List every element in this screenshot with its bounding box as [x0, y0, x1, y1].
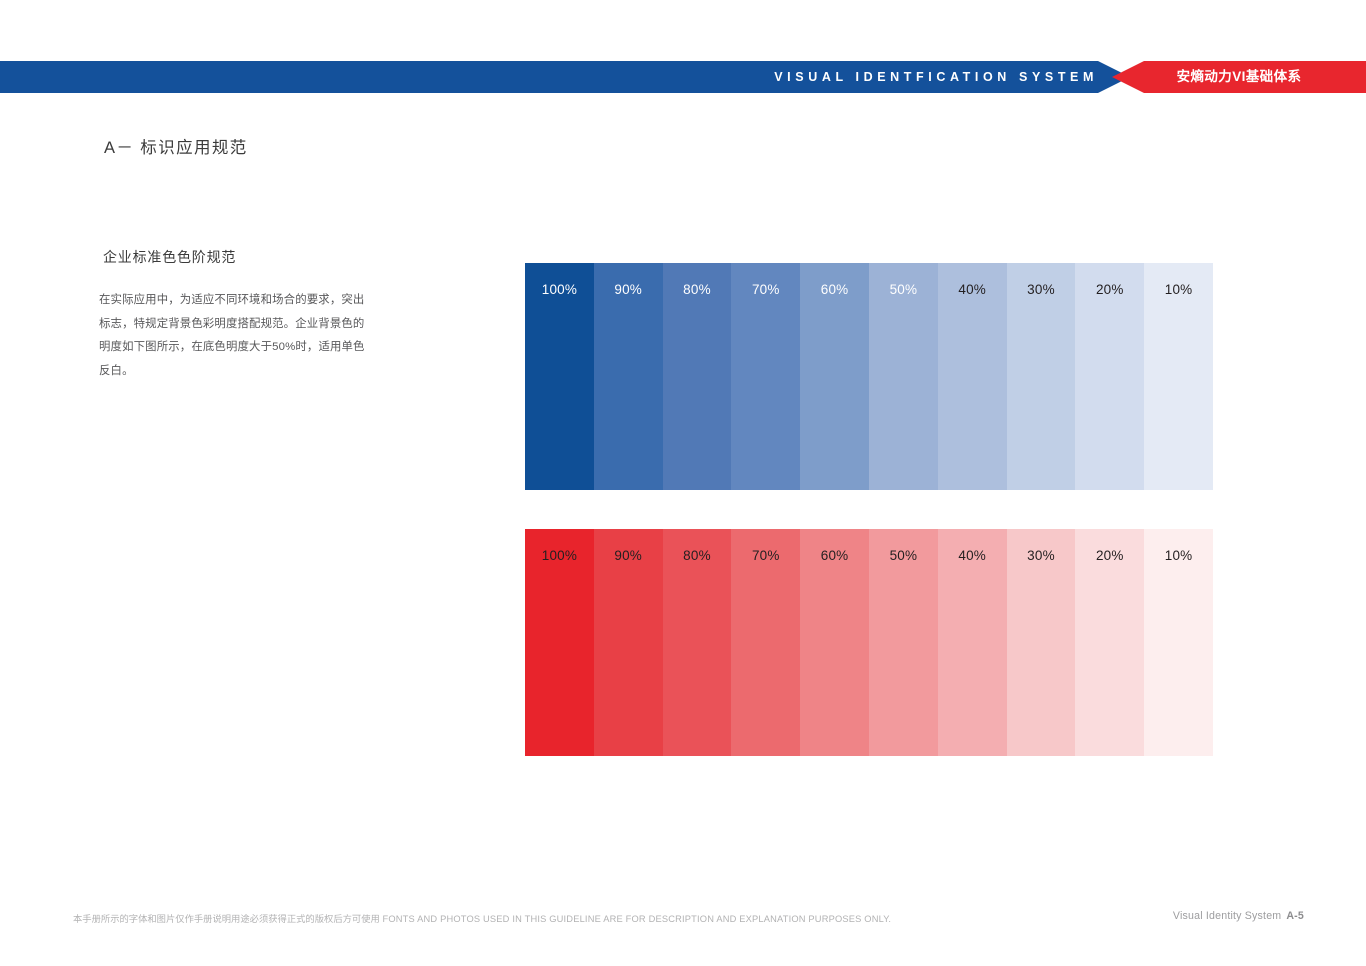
swatch-label: 30%	[1007, 263, 1076, 297]
blue-swatch-40: 40%	[938, 263, 1007, 490]
swatch-label: 80%	[663, 263, 732, 297]
header-title-chinese: 安熵动力VI基础体系	[1112, 61, 1366, 93]
swatch-label: 10%	[1144, 263, 1213, 297]
red-swatch-10: 10%	[1144, 529, 1213, 756]
header-title-english: VISUAL IDENTFICATION SYSTEM	[774, 61, 1098, 93]
description-column: 企业标准色色阶规范 在实际应用中，为适应不同环境和场合的要求，突出标志，特规定背…	[99, 247, 369, 383]
red-swatch-70: 70%	[731, 529, 800, 756]
blue-swatch-10: 10%	[1144, 263, 1213, 490]
swatch-label: 10%	[1144, 529, 1213, 563]
swatch-label: 30%	[1007, 529, 1076, 563]
red-swatch-100: 100%	[525, 529, 594, 756]
blue-swatch-80: 80%	[663, 263, 732, 490]
page-title: A－ 标识应用规范	[104, 134, 248, 158]
swatch-label: 100%	[525, 263, 594, 297]
red-swatch-80: 80%	[663, 529, 732, 756]
footer-page-marker: Visual Identity SystemA-5	[1173, 910, 1304, 922]
swatch-label: 60%	[800, 529, 869, 563]
swatch-label: 20%	[1075, 263, 1144, 297]
swatch-label: 50%	[869, 529, 938, 563]
red-swatch-50: 50%	[869, 529, 938, 756]
blue-swatch-60: 60%	[800, 263, 869, 490]
blue-tint-scale: 100%90%80%70%60%50%40%30%20%10%	[525, 263, 1213, 490]
swatch-label: 60%	[800, 263, 869, 297]
footer-copyright-note: 本手册所示的字体和图片仅作手册说明用途必须获得正式的版权后方可使用 FONTS …	[73, 911, 891, 925]
blue-swatch-70: 70%	[731, 263, 800, 490]
blue-swatch-30: 30%	[1007, 263, 1076, 490]
swatch-label: 90%	[594, 263, 663, 297]
swatch-label: 70%	[731, 529, 800, 563]
swatch-label: 20%	[1075, 529, 1144, 563]
description-heading: 企业标准色色阶规范	[99, 247, 369, 267]
blue-swatch-50: 50%	[869, 263, 938, 490]
swatch-label: 50%	[869, 263, 938, 297]
description-body: 在实际应用中，为适应不同环境和场合的要求，突出标志，特规定背景色彩明度搭配规范。…	[99, 289, 365, 383]
footer-note-english: FONTS AND PHOTOS USED IN THIS GUIDELINE …	[383, 914, 892, 924]
red-swatch-40: 40%	[938, 529, 1007, 756]
red-tint-scale: 100%90%80%70%60%50%40%30%20%10%	[525, 529, 1213, 756]
red-swatch-30: 30%	[1007, 529, 1076, 756]
red-swatch-90: 90%	[594, 529, 663, 756]
swatch-label: 80%	[663, 529, 732, 563]
vi-manual-page: VISUAL IDENTFICATION SYSTEM 安熵动力VI基础体系 A…	[0, 0, 1366, 966]
red-swatch-60: 60%	[800, 529, 869, 756]
footer-note-chinese: 本手册所示的字体和图片仅作手册说明用途必须获得正式的版权后方可使用	[73, 914, 380, 924]
footer-system-label: Visual Identity System	[1173, 910, 1281, 922]
blue-swatch-20: 20%	[1075, 263, 1144, 490]
page-header-band: VISUAL IDENTFICATION SYSTEM 安熵动力VI基础体系	[0, 61, 1366, 93]
blue-swatch-90: 90%	[594, 263, 663, 490]
swatch-label: 40%	[938, 263, 1007, 297]
swatch-label: 40%	[938, 529, 1007, 563]
blue-swatch-100: 100%	[525, 263, 594, 490]
swatch-label: 70%	[731, 263, 800, 297]
red-swatch-20: 20%	[1075, 529, 1144, 756]
footer-page-number: A-5	[1286, 910, 1304, 922]
swatch-label: 100%	[525, 529, 594, 563]
swatch-label: 90%	[594, 529, 663, 563]
